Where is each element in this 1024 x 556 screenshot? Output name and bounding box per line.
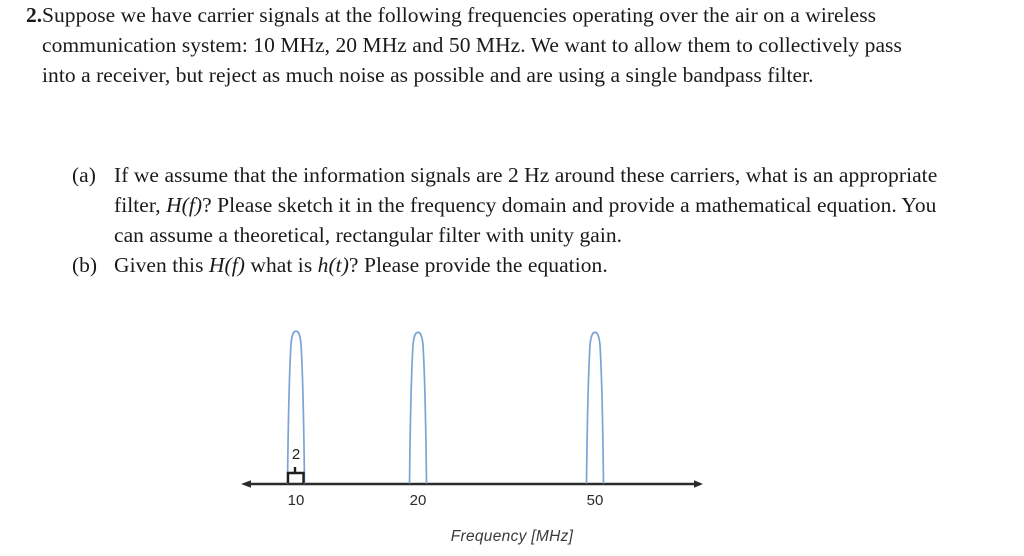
question-number: 2. [0,0,42,30]
question-item: 2. Suppose we have carrier signals at th… [0,0,1024,90]
peak-50mhz [587,332,604,483]
question-block: 2. Suppose we have carrier signals at th… [0,0,1024,90]
bandwidth-brace-icon [288,467,304,483]
peak-20mhz [410,332,427,483]
axis-arrow-right-icon [694,480,703,488]
subpart-a-text-2: ? Please sketch it in the frequency doma… [114,193,936,247]
tick-label-20: 20 [398,492,438,509]
spectrum-figure: 2 10 20 50 Frequency [MHz] [0,320,1024,556]
question-stem-text: Suppose we have carrier signals at the f… [42,0,932,90]
tick-label-10: 10 [276,492,316,509]
subpart-b-body: Given this H(f) what is h(t)? Please pro… [114,250,962,280]
subpart-b-math-ht: h(t) [318,253,349,277]
tick-label-50: 50 [575,492,615,509]
spectrum-plot-svg [0,320,1024,556]
subpart-b-math-hf: H(f) [209,253,245,277]
frequency-axis [241,480,703,488]
subpart-b-text-2: what is [245,253,318,277]
carrier-peaks-group [288,331,604,483]
axis-arrow-left-icon [241,480,251,488]
x-axis-caption: Frequency [MHz] [0,528,1024,546]
subpart-b-marker: (b) [0,250,72,280]
subpart-b: (b) Given this H(f) what is h(t)? Please… [0,250,1024,280]
bandwidth-value-label: 2 [284,446,308,463]
subpart-a-math-hf: H(f) [166,193,202,217]
subpart-b-text-1: Given this [114,253,209,277]
subpart-a-marker: (a) [0,160,72,190]
subparts-list: (a) If we assume that the information si… [0,160,1024,280]
subpart-b-text-3: ? Please provide the equation. [349,253,608,277]
subpart-a: (a) If we assume that the information si… [0,160,1024,250]
subpart-a-body: If we assume that the information signal… [114,160,962,250]
